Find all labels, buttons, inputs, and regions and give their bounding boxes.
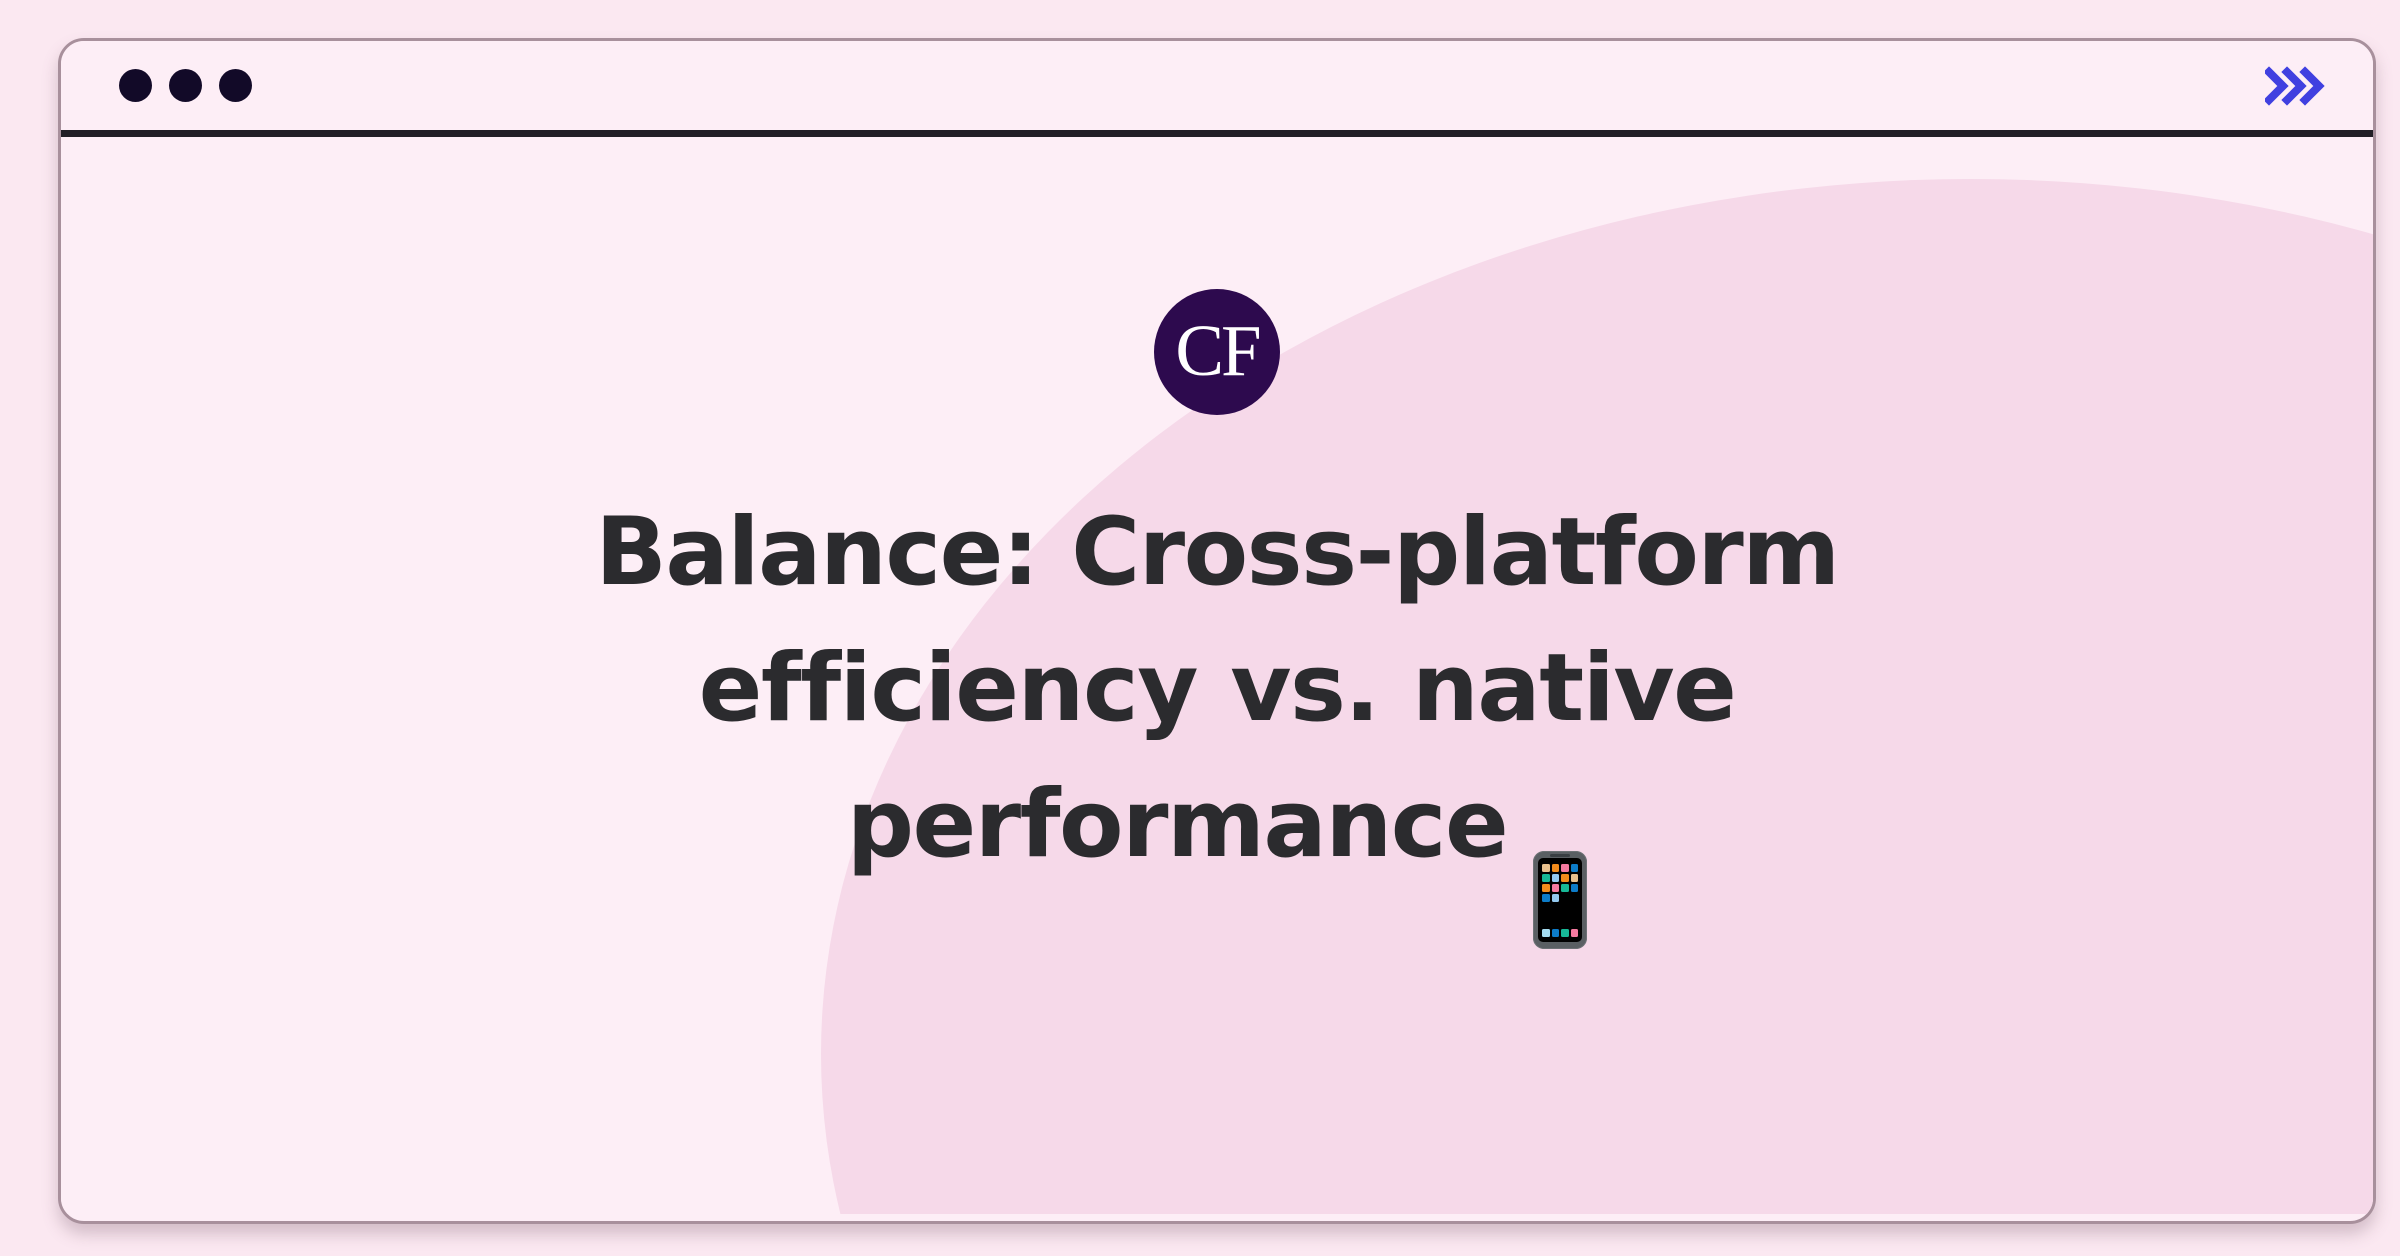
window-controls xyxy=(119,69,252,102)
phone-screen xyxy=(1538,858,1582,942)
cf-monogram-logo: CF xyxy=(1154,289,1280,415)
phone-speaker xyxy=(1550,854,1570,857)
triple-chevron-right-icon[interactable] xyxy=(2265,66,2327,106)
slide-body: CF Balance: Cross-platform efficiency vs… xyxy=(61,137,2373,1214)
headline-line-3: performance xyxy=(847,770,1508,879)
window-dot-minimize[interactable] xyxy=(169,69,202,102)
window-dot-maximize[interactable] xyxy=(219,69,252,102)
logo-text: CF xyxy=(1175,314,1258,387)
mobile-phone-emoji xyxy=(1533,851,1587,949)
page-title: Balance: Cross-platform efficiency vs. n… xyxy=(467,485,1967,949)
phone-app-grid xyxy=(1542,864,1578,902)
slide-content-area: CF Balance: Cross-platform efficiency vs… xyxy=(61,137,2373,1214)
headline-line-3-row: performance xyxy=(467,757,1967,949)
headline-line-1: Balance: Cross-platform xyxy=(467,485,1967,621)
browser-window-card: CF Balance: Cross-platform efficiency vs… xyxy=(58,38,2376,1224)
phone-dock xyxy=(1542,929,1578,937)
browser-title-bar xyxy=(61,41,2373,137)
headline-line-2: efficiency vs. native xyxy=(467,621,1967,757)
window-dot-close[interactable] xyxy=(119,69,152,102)
